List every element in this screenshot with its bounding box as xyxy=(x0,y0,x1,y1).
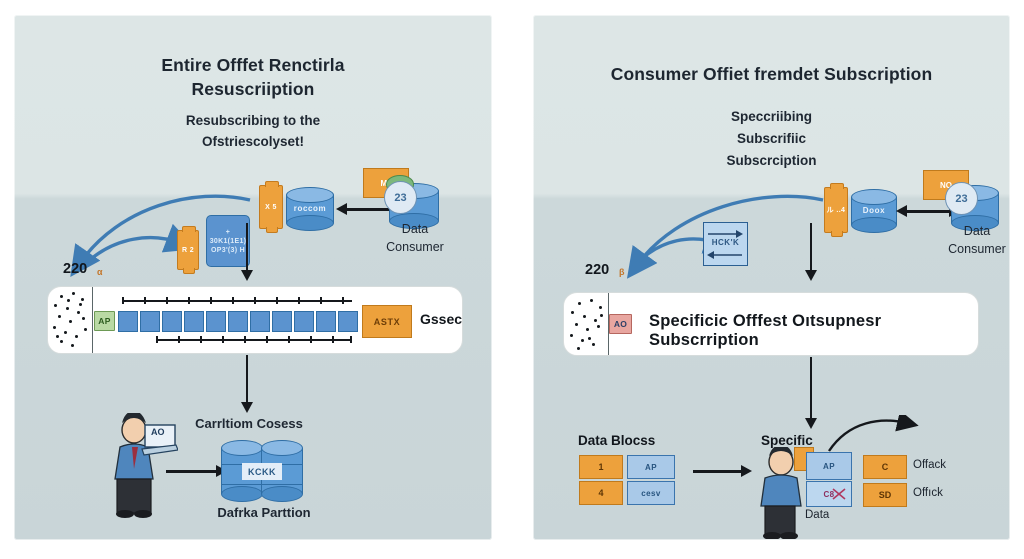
right-result-box-1-label: SD xyxy=(879,490,892,500)
left-consumer-caption-line1: Data xyxy=(369,220,461,238)
right-block-row1-right-label: cesv xyxy=(641,489,660,498)
left-log-trailing-text: Gssecripos xyxy=(420,311,463,327)
right-offset-number: 220 xyxy=(585,262,609,278)
left-offset-suffix: α xyxy=(97,267,103,277)
right-sync-double-arrow xyxy=(907,210,949,213)
left-log-chip-label: AP xyxy=(98,316,110,326)
right-block-row1-right: cesv xyxy=(627,481,675,505)
right-panel-subtitle-line2: Subscrifiic xyxy=(533,128,1010,149)
left-broker-database-label: roccom xyxy=(286,204,334,213)
right-arrow-to-log xyxy=(810,223,812,271)
right-arrow-to-blocks xyxy=(810,357,812,419)
left-replica-server-icon: R 2 xyxy=(177,230,199,270)
right-result-box-0-label: C xyxy=(882,462,889,472)
right-block-row0-left-label: 1 xyxy=(598,462,603,472)
right-log-noise xyxy=(564,293,608,355)
left-panel-subtitle-line2: Ofstriescolyset! xyxy=(14,131,492,152)
right-block-row1-left: 4 xyxy=(579,481,623,505)
left-person-arrow xyxy=(166,470,216,473)
left-broker-database-icon: roccom xyxy=(286,187,334,231)
right-panel-title: Consumer Offiet fremdet Subscription xyxy=(533,62,1010,87)
right-log-chip: AO xyxy=(609,314,632,334)
right-broker-server-icon: ル ..4 xyxy=(824,187,848,233)
right-blocks-title: Data Blocss xyxy=(578,433,655,448)
right-broker-database-label: Doox xyxy=(851,206,897,215)
right-block-row1-left-label: 4 xyxy=(598,488,603,498)
left-partition-disk-label: KCKK xyxy=(242,463,282,480)
right-person-title: Specific xyxy=(761,433,813,448)
right-panel: Consumer Offiet fremdet Subscription Spe… xyxy=(533,15,1010,540)
left-log-tail-box: ASTX xyxy=(362,305,412,338)
left-log-bar: AP xyxy=(47,286,463,354)
right-consumer-bubble: 23 xyxy=(945,182,978,215)
left-config-box: + 30K1(1E1) OP3'(3) H xyxy=(206,215,250,267)
left-broker-server-icon: X 5 xyxy=(259,185,283,229)
left-arrow-to-consumers xyxy=(246,355,248,403)
left-offset-number: 220 xyxy=(63,261,87,277)
left-consumer-bubble-label: 23 xyxy=(394,192,406,204)
right-broker-database-icon: Doox xyxy=(851,189,897,233)
right-log-bar: AO Specificic Offfest Oıtsupnesr Subscrr… xyxy=(563,292,979,356)
right-person-card-bottom: C8 xyxy=(806,481,852,507)
left-log-noise xyxy=(48,287,92,353)
left-config-box-label: + 30K1(1E1) OP3'(3) H xyxy=(209,228,247,255)
left-panel-title-line1: Entire Offfet Renctirla xyxy=(14,53,492,78)
right-consumer-bubble-label: 23 xyxy=(955,193,967,205)
right-block-row0-right: AP xyxy=(627,455,675,479)
right-result-box-1: SD xyxy=(863,483,907,507)
left-log-tail-label: ASTX xyxy=(374,317,400,327)
left-consumer-bubble: 23 xyxy=(384,181,417,214)
left-panel-subtitle-line1: Resubscribing to the xyxy=(14,110,492,131)
left-broker-server-label: X 5 xyxy=(265,204,277,211)
right-result-label-0: Offack xyxy=(913,459,946,471)
left-consumer-caption-line2: Consumer xyxy=(359,238,471,256)
right-block-row0-left: 1 xyxy=(579,455,623,479)
left-log-chip: AP xyxy=(94,311,115,331)
right-consumer-caption-line1: Data xyxy=(931,222,1010,240)
right-offset-suffix: β xyxy=(619,267,625,277)
right-log-chip-label: AO xyxy=(614,319,627,329)
right-broker-server-label: ル ..4 xyxy=(827,205,846,215)
right-block-row0-right-label: AP xyxy=(645,463,657,472)
left-partition-caption-top: Carrltiom Cosess xyxy=(164,415,334,433)
left-person-screen-label: AO xyxy=(151,427,165,437)
right-sync-box-label: HCK'K xyxy=(704,238,747,247)
right-person-caption: Data xyxy=(805,509,829,521)
right-result-box-0: C xyxy=(863,455,907,479)
right-consumer-caption-line2: Consumer xyxy=(921,240,1010,258)
right-blocks-arrow xyxy=(693,470,741,473)
figure-canvas: Entire Offfet Renctirla Resuscriiption R… xyxy=(0,0,1024,559)
right-result-label-1: Offıck xyxy=(913,487,943,499)
right-log-text: Specificic Offfest Oıtsupnesr Subscrript… xyxy=(649,312,978,350)
right-sync-box: HCK'K xyxy=(703,222,748,266)
left-panel: Entire Offfet Renctirla Resuscriiption R… xyxy=(14,15,492,540)
left-partition-caption-bottom: Dafrka Parttion xyxy=(169,504,359,522)
left-panel-title-line2: Resuscriiption xyxy=(14,77,492,102)
left-sync-double-arrow xyxy=(347,208,389,211)
right-panel-subtitle-line1: Speccriibing xyxy=(533,106,1010,127)
left-replica-server-label: R 2 xyxy=(182,247,194,254)
left-arrow-to-log xyxy=(246,223,248,271)
